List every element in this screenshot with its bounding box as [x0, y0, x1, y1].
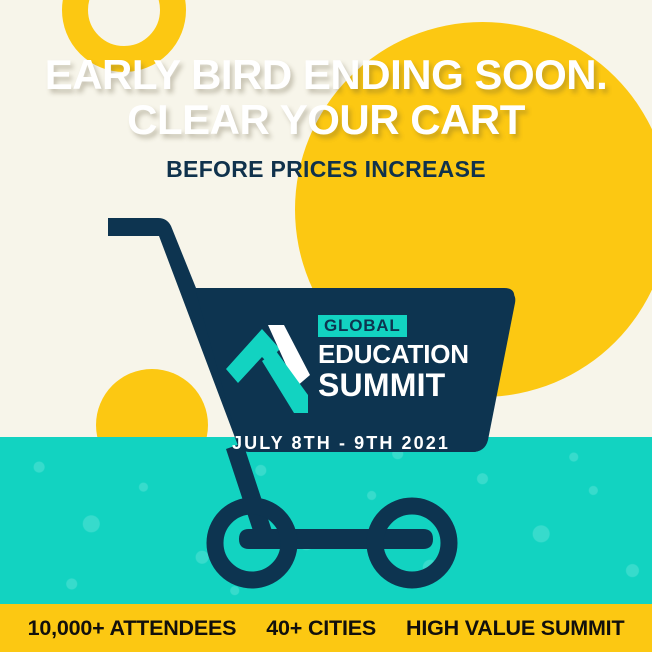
chevron-roof-mark-icon	[222, 317, 314, 417]
event-date-text: JULY 8TH - 9TH 2021	[232, 433, 450, 454]
headline-block: EARLY BIRD ENDING SOON. CLEAR YOUR CART …	[0, 52, 652, 183]
stat-value: HIGH VALUE SUMMIT	[406, 616, 624, 641]
logo-summit-text: SUMMIT	[318, 369, 470, 403]
stat-cities: 40+ CITIES	[266, 616, 376, 641]
headline-line-1: EARLY BIRD ENDING SOON.	[0, 52, 652, 97]
stat-attendees: 10,000+ ATTENDEES	[28, 616, 237, 641]
logo-education-text: EDUCATION	[318, 340, 470, 368]
teal-band-shape	[0, 437, 652, 604]
logo-wordmark: GLOBAL EDUCATION SUMMIT	[318, 315, 470, 403]
promo-poster: EARLY BIRD ENDING SOON. CLEAR YOUR CART …	[0, 0, 652, 652]
headline-line-2: CLEAR YOUR CART	[0, 97, 652, 142]
stats-banner: 10,000+ ATTENDEES 40+ CITIES HIGH VALUE …	[0, 604, 652, 652]
event-logo-lockup: GLOBAL EDUCATION SUMMIT JULY 8TH - 9TH 2…	[222, 315, 472, 460]
subheadline: BEFORE PRICES INCREASE	[0, 156, 652, 183]
logo-global-text: GLOBAL	[318, 315, 407, 337]
